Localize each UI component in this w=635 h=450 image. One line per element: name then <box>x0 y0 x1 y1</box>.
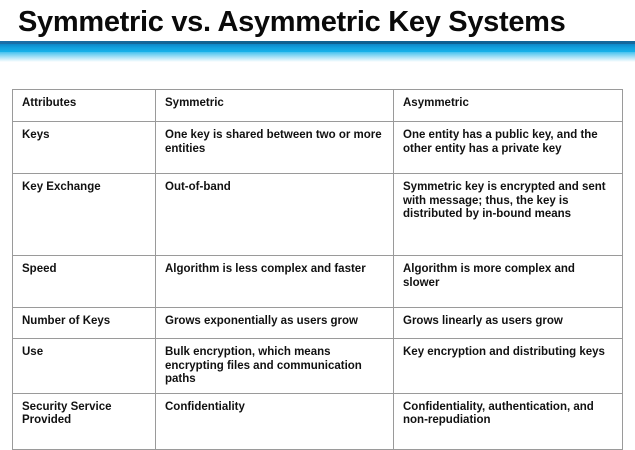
cell-attribute: Keys <box>13 122 156 174</box>
cell-attribute: Use <box>13 339 156 394</box>
cell-symmetric: Out-of-band <box>156 174 394 256</box>
cell-attribute: Key Exchange <box>13 174 156 256</box>
cell-asymmetric: Symmetric key is encrypted and sent with… <box>394 174 623 256</box>
table-row: Key Exchange Out-of-band Symmetric key i… <box>13 174 623 256</box>
comparison-table: Attributes Symmetric Asymmetric Keys One… <box>12 89 623 450</box>
cell-asymmetric: Grows linearly as users grow <box>394 308 623 339</box>
accent-rule-fade-band <box>0 52 635 62</box>
comparison-table-wrapper: Attributes Symmetric Asymmetric Keys One… <box>12 89 622 450</box>
cell-asymmetric: One entity has a public key, and the oth… <box>394 122 623 174</box>
cell-symmetric: Algorithm is less complex and faster <box>156 256 394 308</box>
table-row: Number of Keys Grows exponentially as us… <box>13 308 623 339</box>
cell-asymmetric: Key encryption and distributing keys <box>394 339 623 394</box>
cell-symmetric: Confidentiality <box>156 393 394 449</box>
cell-attribute: Security Service Provided <box>13 393 156 449</box>
table-row: Security Service Provided Confidentialit… <box>13 393 623 449</box>
column-header-asymmetric: Asymmetric <box>394 90 623 122</box>
accent-rule-main-band <box>0 44 635 52</box>
cell-symmetric: Grows exponentially as users grow <box>156 308 394 339</box>
column-header-symmetric: Symmetric <box>156 90 394 122</box>
table-row: Use Bulk encryption, which means encrypt… <box>13 339 623 394</box>
cell-asymmetric: Algorithm is more complex and slower <box>394 256 623 308</box>
table-row: Speed Algorithm is less complex and fast… <box>13 256 623 308</box>
cell-symmetric: One key is shared between two or more en… <box>156 122 394 174</box>
column-header-attributes: Attributes <box>13 90 156 122</box>
table-header-row: Attributes Symmetric Asymmetric <box>13 90 623 122</box>
cell-attribute: Number of Keys <box>13 308 156 339</box>
cell-symmetric: Bulk encryption, which means encrypting … <box>156 339 394 394</box>
cell-attribute: Speed <box>13 256 156 308</box>
title-accent-rule <box>0 41 635 62</box>
slide: Symmetric vs. Asymmetric Key Systems Att… <box>0 0 635 431</box>
table-row: Keys One key is shared between two or mo… <box>13 122 623 174</box>
cell-asymmetric: Confidentiality, authentication, and non… <box>394 393 623 449</box>
page-title: Symmetric vs. Asymmetric Key Systems <box>18 2 566 42</box>
